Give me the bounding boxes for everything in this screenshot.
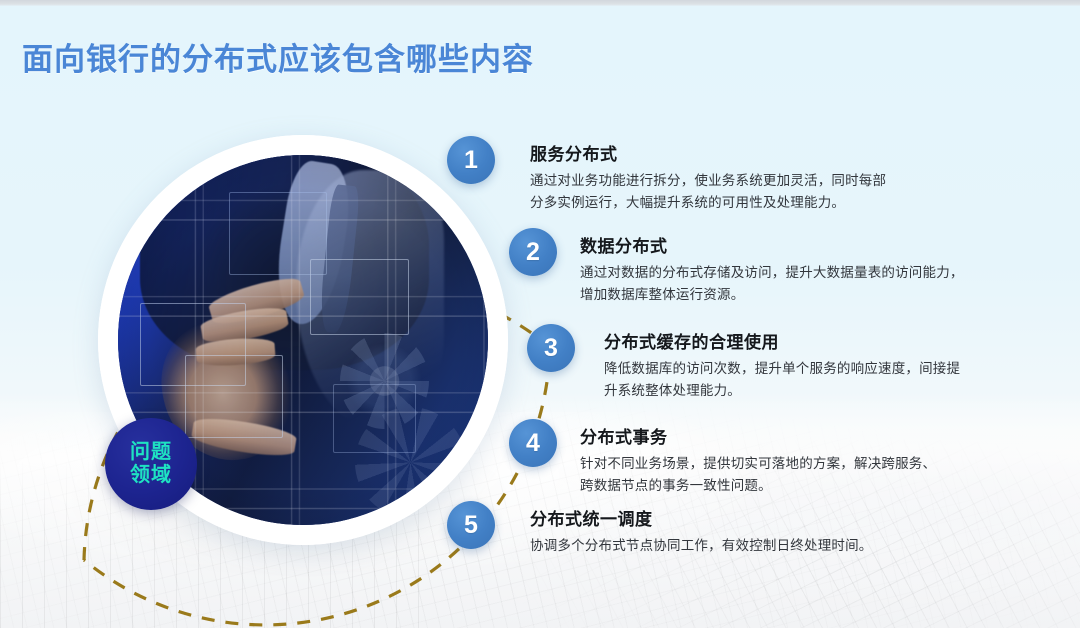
- step-item-1: 服务分布式 通过对业务功能进行拆分，使业务系统更加灵活，同时每部 分多实例运行，…: [530, 140, 990, 214]
- page-title: 面向银行的分布式应该包含哪些内容: [22, 34, 534, 79]
- step-desc-3: 降低数据库的访问次数，提升单个服务的响应速度，间接提 升系统整体处理能力。: [604, 358, 1054, 402]
- step-number-4[interactable]: 4: [509, 419, 557, 467]
- step-item-3: 分布式缓存的合理使用 降低数据库的访问次数，提升单个服务的响应速度，间接提 升系…: [604, 328, 1054, 402]
- problem-domain-badge: 问题 领域: [105, 418, 197, 510]
- step-item-4: 分布式事务 针对不同业务场景，提供切实可落地的方案，解决跨服务、 跨数据节点的事…: [580, 423, 1040, 497]
- step-title-4: 分布式事务: [580, 423, 1040, 448]
- problem-domain-line2: 领域: [130, 464, 172, 487]
- step-number-5[interactable]: 5: [447, 501, 495, 549]
- top-edge-strip: [0, 0, 1080, 6]
- step-number-2[interactable]: 2: [509, 228, 557, 276]
- step-desc-2: 通过对数据的分布式存储及访问，提升大数据量表的访问能力， 增加数据库整体运行资源…: [580, 262, 1050, 306]
- step-item-2: 数据分布式 通过对数据的分布式存储及访问，提升大数据量表的访问能力， 增加数据库…: [580, 232, 1050, 306]
- step-title-2: 数据分布式: [580, 232, 1050, 257]
- slide-canvas: 面向银行的分布式应该包含哪些内容: [0, 0, 1080, 628]
- step-title-1: 服务分布式: [530, 140, 990, 165]
- step-item-5: 分布式统一调度 协调多个分布式节点协同工作，有效控制日终处理时间。: [530, 505, 1000, 557]
- problem-domain-line1: 问题: [130, 441, 172, 464]
- step-number-1[interactable]: 1: [447, 136, 495, 184]
- step-title-3: 分布式缓存的合理使用: [604, 328, 1054, 353]
- step-desc-5: 协调多个分布式节点协同工作，有效控制日终处理时间。: [530, 535, 1000, 557]
- step-desc-4: 针对不同业务场景，提供切实可落地的方案，解决跨服务、 跨数据节点的事务一致性问题…: [580, 453, 1040, 497]
- step-title-5: 分布式统一调度: [530, 505, 1000, 530]
- step-number-3[interactable]: 3: [527, 324, 575, 372]
- step-desc-1: 通过对业务功能进行拆分，使业务系统更加灵活，同时每部 分多实例运行，大幅提升系统…: [530, 170, 990, 214]
